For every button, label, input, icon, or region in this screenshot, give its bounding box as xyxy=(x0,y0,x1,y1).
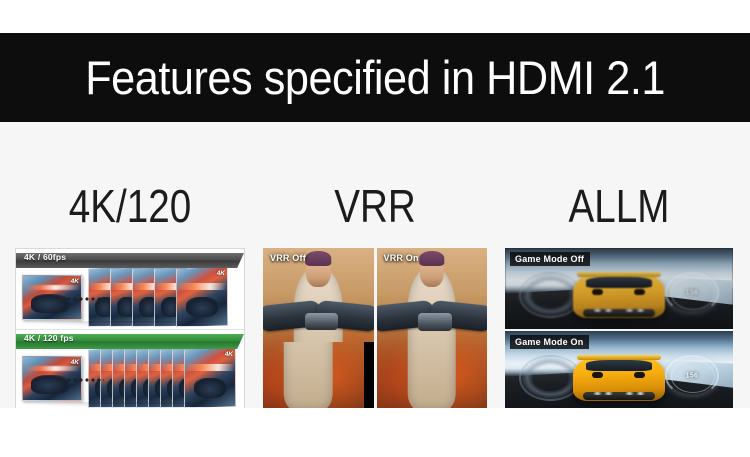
resolution-badge-icon: 4K xyxy=(217,270,225,277)
character-weapon xyxy=(418,313,451,331)
frame-stack-120fps: 4K xyxy=(88,348,242,410)
framerate-label-60fps: 4K / 60fps xyxy=(24,252,66,262)
vrr-tear-lower xyxy=(263,342,374,410)
speedometer-gauge-on: 156 xyxy=(665,355,720,396)
top-margin xyxy=(0,0,750,33)
feature-graphic: Features specified in HDMI 2.1 4K/120 VR… xyxy=(0,0,750,457)
title-banner: Features specified in HDMI 2.1 xyxy=(0,33,750,122)
feature-panel-allm: 156 Game Mode Off xyxy=(505,248,733,410)
rear-wing xyxy=(577,272,661,276)
engine-vent xyxy=(634,289,646,296)
feature-panel-vrr: VRR Off xyxy=(263,248,487,410)
gauge-speed-value: 156 xyxy=(665,289,720,296)
feature-heading-4k120: 4K/120 xyxy=(33,180,226,232)
vrr-on-label: VRR On xyxy=(384,253,419,263)
character-hair xyxy=(419,251,444,266)
speedometer-gauge-off: 156 xyxy=(665,272,720,313)
character-weapon xyxy=(305,313,338,331)
game-mode-on-row: 156 Game Mode On xyxy=(505,329,733,410)
framerate-row-120fps: 4K / 120 fps 4K xyxy=(16,330,244,410)
engine-vent xyxy=(634,372,646,379)
features-area: 4K/120 VRR ALLM 4K / 60fps 4K xyxy=(0,122,750,457)
gauge-speed-value: 156 xyxy=(665,372,720,379)
feature-headings: 4K/120 VRR ALLM xyxy=(0,180,750,240)
rear-window xyxy=(586,360,652,371)
motion-streak xyxy=(23,366,81,370)
vrr-off-label: VRR Off xyxy=(270,253,306,263)
vrr-compare: VRR Off xyxy=(263,248,487,410)
frame-spacing-dots-60fps xyxy=(60,297,104,301)
resolution-badge-icon: 4K xyxy=(71,359,79,366)
motion-streak xyxy=(23,285,81,289)
feature-panel-4k120: 4K / 60fps 4K 4K xyxy=(15,248,245,410)
rear-window xyxy=(586,277,652,288)
character-hair xyxy=(306,251,331,266)
sports-car xyxy=(573,274,664,318)
frame-thumb: 4K xyxy=(176,267,228,327)
game-mode-off-row: 156 Game Mode Off xyxy=(505,248,733,329)
engine-vent xyxy=(592,372,604,379)
vrr-off-side: VRR Off xyxy=(263,248,374,410)
engine-vent xyxy=(592,289,604,296)
frame-spacing-dots-120fps xyxy=(60,378,104,382)
stack-shadow xyxy=(20,321,240,327)
vrr-on-side: VRR On xyxy=(374,248,488,410)
resolution-badge-icon: 4K xyxy=(225,351,233,358)
framerate-row-60fps: 4K / 60fps 4K 4K xyxy=(16,249,244,330)
rear-wing xyxy=(577,355,661,359)
resolution-badge-icon: 4K xyxy=(71,278,79,285)
frame-stack-60fps: 4K xyxy=(88,267,242,329)
character-body xyxy=(407,267,456,410)
feature-heading-allm: ALLM xyxy=(523,180,715,232)
sports-car xyxy=(573,357,664,401)
bottom-margin xyxy=(0,408,750,457)
frame-thumb: 4K xyxy=(184,348,236,408)
game-mode-on-label: Game Mode On xyxy=(510,335,589,349)
framerate-label-120fps: 4K / 120 fps xyxy=(24,333,74,343)
character-body xyxy=(284,342,333,410)
game-mode-off-label: Game Mode Off xyxy=(510,252,590,266)
feature-heading-vrr: VRR xyxy=(281,180,469,232)
page-title: Features specified in HDMI 2.1 xyxy=(85,50,665,105)
